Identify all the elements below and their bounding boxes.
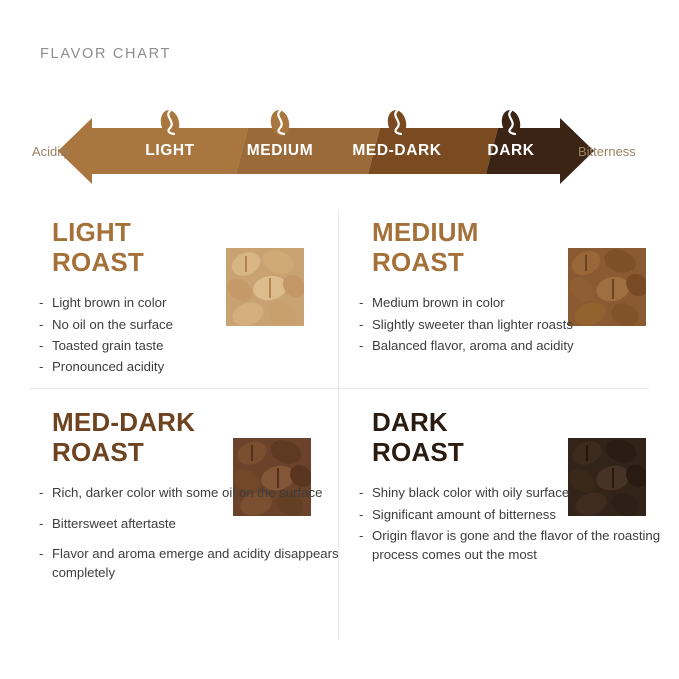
bitterness-label: Bitterness [578,144,636,159]
list-item: Medium brown in color [358,293,668,312]
coffee-bean-icon [267,108,293,138]
list-item: Rich, darker color with some oil on the … [38,483,348,502]
quadrant-bullet-list: Medium brown in color Slightly sweeter t… [358,293,668,355]
quadrant-heading: MEDIUM ROAST [372,218,668,277]
list-item: Origin flavor is gone and the flavor of … [358,526,668,565]
list-item: Toasted grain taste [38,336,348,355]
quadrant-med-dark-roast: MED-DARK ROAST Rich, darker color with s… [38,408,348,594]
quadrant-heading: DARK ROAST [372,408,668,467]
list-item: Bittersweet aftertaste [38,514,348,533]
quadrant-bullet-list: Rich, darker color with some oil on the … [38,483,348,583]
roast-scale-bar: Acidity Bitterness LIGHT MEDIUM MED-DARK… [0,106,679,184]
quadrant-medium-roast: MEDIUM ROAST Medium brown in color Sligh… [358,218,668,357]
quadrant-heading: MED-DARK ROAST [52,408,348,467]
heading-line-2: ROAST [372,437,464,467]
list-item: Flavor and aroma emerge and acidity disa… [38,544,348,583]
quadrant-dark-roast: DARK ROAST Shiny black color with oily s… [358,408,668,567]
heading-line-1: MED-DARK [52,407,195,437]
heading-line-2: ROAST [52,437,144,467]
coffee-bean-icon [384,108,410,138]
coffee-bean-icon [498,108,524,138]
list-item: No oil on the surface [38,315,348,334]
acidity-label: Acidity [32,144,70,159]
coffee-bean-icon [157,108,183,138]
flavor-chart-infographic: FLAVOR CHART Acidity Bitterness [0,0,679,679]
scale-label-medium: MEDIUM [247,142,313,160]
quadrant-light-roast: LIGHT ROAST Light brown in color No oil … [38,218,348,379]
horizontal-divider [30,388,649,389]
roast-quadrant-grid: LIGHT ROAST Light brown in color No oil … [0,200,679,660]
list-item: Slightly sweeter than lighter roasts [358,315,668,334]
scale-label-dark: DARK [487,142,534,160]
quadrant-bullet-list: Shiny black color with oily surface Sign… [358,483,668,565]
quadrant-bullet-list: Light brown in color No oil on the surfa… [38,293,348,377]
heading-line-1: DARK [372,407,448,437]
scale-label-light: LIGHT [145,142,195,160]
quadrant-heading: LIGHT ROAST [52,218,348,277]
heading-line-2: ROAST [372,247,464,277]
heading-line-1: LIGHT [52,217,131,247]
list-item: Balanced flavor, aroma and acidity [358,336,668,355]
page-title: FLAVOR CHART [40,46,171,62]
list-item: Pronounced acidity [38,357,348,376]
heading-line-2: ROAST [52,247,144,277]
list-item: Light brown in color [38,293,348,312]
list-item: Significant amount of bitterness [358,505,668,524]
list-item: Shiny black color with oily surface [358,483,668,502]
scale-label-med-dark: MED-DARK [352,142,441,160]
heading-line-1: MEDIUM [372,217,479,247]
